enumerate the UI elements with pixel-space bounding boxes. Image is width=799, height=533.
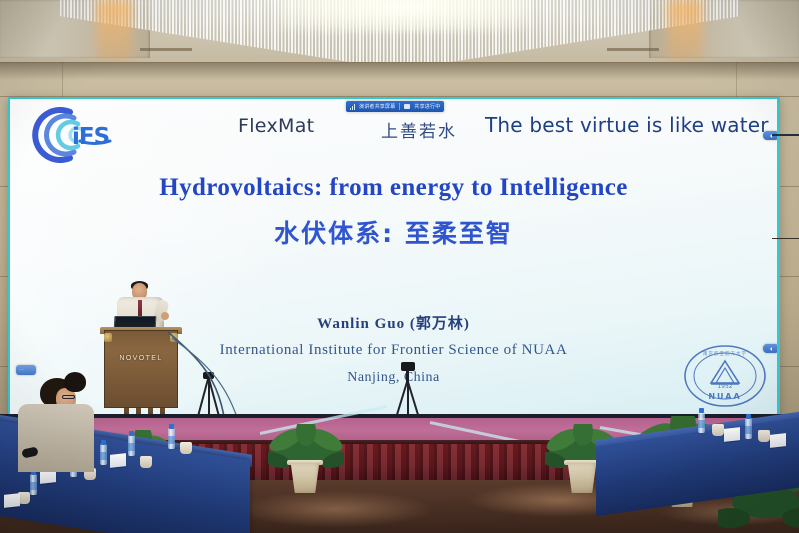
svg-text:1952: 1952 xyxy=(717,383,732,390)
cable-right-top xyxy=(772,134,799,136)
journal-name: FlexMat xyxy=(238,115,314,137)
water-bottle-1 xyxy=(100,444,107,465)
podium-ornament-left xyxy=(104,333,112,342)
share-bar-label-left: 演讲者共享屏幕 xyxy=(359,103,395,110)
ceiling-vent-left xyxy=(140,48,192,51)
svg-text:NUAA: NUAA xyxy=(708,392,741,401)
name-card-3 xyxy=(4,493,20,508)
wall-seam-top xyxy=(0,62,799,63)
ceiling-warm-glow-right xyxy=(667,0,703,62)
conference-photo-scene: iFS 演讲者共享屏幕 共享进行中 FlexMat 上善若水 The best … xyxy=(0,0,799,533)
water-bottle-7 xyxy=(745,418,752,439)
calligraphy-chinese: 上善若水 xyxy=(381,117,457,142)
signal-bars-icon xyxy=(350,104,355,110)
water-bottle-2 xyxy=(128,435,135,456)
ifs-logo: iFS xyxy=(24,107,120,163)
motto-english: The best virtue is like water xyxy=(485,113,769,137)
ceiling-vent-right xyxy=(607,48,659,51)
presenter-hand xyxy=(161,312,169,320)
tea-cup-1 xyxy=(140,456,152,468)
nuaa-seal: 1952 NUAA 南京航空航天大学 xyxy=(682,343,768,409)
name-card-1 xyxy=(110,453,126,468)
water-bottle-6 xyxy=(698,412,705,433)
svg-text:南京航空航天大学: 南京航空航天大学 xyxy=(703,350,747,357)
slide-title-english: Hydrovoltaics: from energy to Intelligen… xyxy=(10,174,777,202)
tea-cup-4 xyxy=(180,442,192,454)
water-bottle-5 xyxy=(168,428,175,449)
cast-icon xyxy=(404,104,410,109)
slide-title-chinese: 水伏体系: 至柔至智 xyxy=(10,214,777,250)
screen-share-status-bar: 演讲者共享屏幕 共享进行中 xyxy=(346,101,444,112)
share-bar-label-right: 共享进行中 xyxy=(414,103,440,110)
screen-share-toolbar-left[interactable]: ⋯ xyxy=(16,365,36,375)
seated-attendee-second-left-hair xyxy=(64,372,86,392)
share-bar-divider xyxy=(399,103,400,110)
svg-text:iFS: iFS xyxy=(72,124,109,150)
ceiling-warm-glow-left xyxy=(96,0,132,62)
tea-cup-5 xyxy=(712,424,724,436)
seated-attendee-front-left-body xyxy=(18,404,94,472)
cable-right-mid xyxy=(772,238,799,239)
water-bottle-4 xyxy=(30,474,37,495)
ceiling xyxy=(0,0,799,68)
glasses-icon xyxy=(62,395,75,399)
toolbar-dots-icon: ⋯ xyxy=(19,367,24,373)
chandelier-hotspot xyxy=(280,0,530,32)
collapse-tab-right-bottom[interactable] xyxy=(763,344,777,353)
wall-top-shadow xyxy=(0,62,799,80)
name-card-5 xyxy=(770,433,786,448)
tea-cup-6 xyxy=(758,430,770,442)
name-card-4 xyxy=(724,427,740,442)
